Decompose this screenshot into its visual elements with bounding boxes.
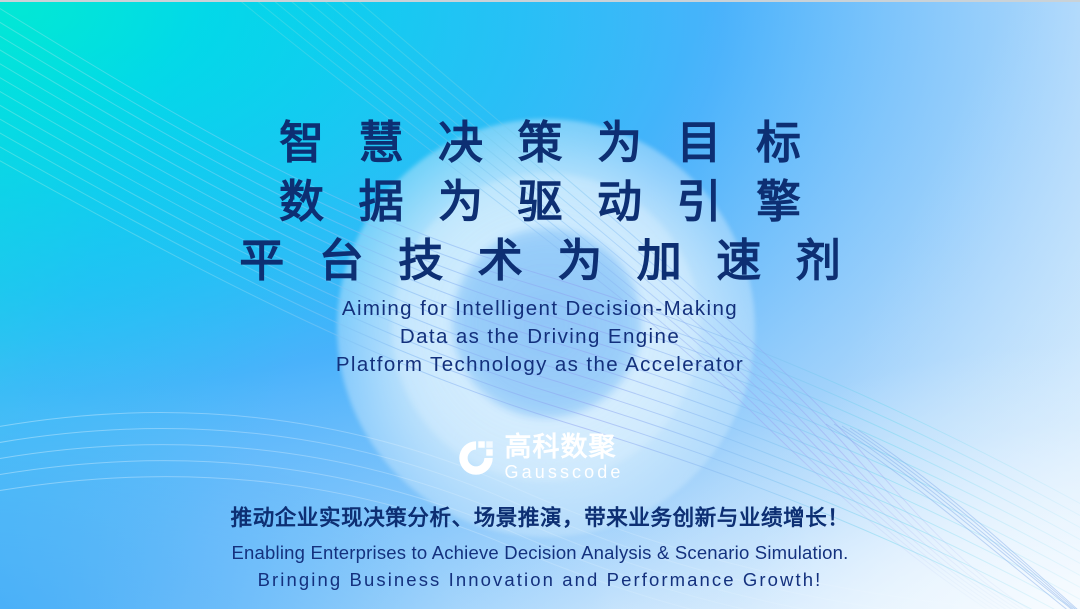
tagline-chinese: 推动企业实现决策分析、场景推演，带来业务创新与业绩增长！ bbox=[231, 503, 850, 533]
top-edge-strip bbox=[0, 0, 1080, 2]
subtitle-line-3: Platform Technology as the Accelerator bbox=[336, 351, 744, 379]
brand-name-cn: 高科数聚 bbox=[505, 434, 617, 461]
tagline-english-line-2: Bringing Business Innovation and Perform… bbox=[231, 566, 850, 593]
brand-name-en: Gausscode bbox=[505, 463, 624, 481]
content-stack: 智 慧 决 策 为 目 标 数 据 为 驱 动 引 擎 平 台 技 术 为 加 … bbox=[0, 0, 1080, 609]
tagline-english-wrap: Enabling Enterprises to Achieve Decision… bbox=[231, 539, 850, 593]
brand-logo-lockup: 高科数聚 Gausscode bbox=[457, 434, 624, 481]
brand-wordmark: 高科数聚 Gausscode bbox=[505, 434, 624, 481]
tagline-block: 推动企业实现决策分析、场景推演，带来业务创新与业绩增长！ Enabling En… bbox=[231, 503, 850, 593]
banner-canvas: 智 慧 决 策 为 目 标 数 据 为 驱 动 引 擎 平 台 技 术 为 加 … bbox=[0, 0, 1080, 609]
subtitle-line-2: Data as the Driving Engine bbox=[336, 323, 744, 351]
subtitle-block: Aiming for Intelligent Decision-Making D… bbox=[336, 295, 744, 379]
headline-line-1: 智 慧 决 策 为 目 标 bbox=[228, 113, 852, 172]
tagline-english-line-1: Enabling Enterprises to Achieve Decision… bbox=[231, 539, 850, 566]
headline-block: 智 慧 决 策 为 目 标 数 据 为 驱 动 引 擎 平 台 技 术 为 加 … bbox=[228, 113, 852, 290]
gausscode-circle-mark-icon bbox=[457, 439, 495, 477]
headline-line-2: 数 据 为 驱 动 引 擎 bbox=[228, 172, 852, 231]
headline-line-3: 平 台 技 术 为 加 速 剂 bbox=[228, 231, 852, 290]
subtitle-line-1: Aiming for Intelligent Decision-Making bbox=[336, 295, 744, 323]
